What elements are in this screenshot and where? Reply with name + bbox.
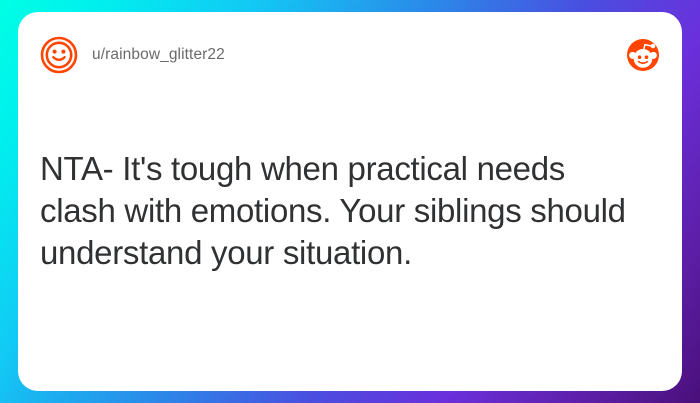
screenshot-stage: u/rainbow_glitter22 NTA- It's tough when… <box>0 0 700 403</box>
smiley-face-avatar-icon[interactable] <box>40 36 78 74</box>
username-label: u/rainbow_glitter22 <box>92 46 225 64</box>
reddit-snoo-logo-icon[interactable] <box>626 38 660 72</box>
reddit-comment-card: u/rainbow_glitter22 NTA- It's tough when… <box>18 12 682 391</box>
comment-text: NTA- It's tough when practical needs cla… <box>40 148 646 274</box>
comment-header: u/rainbow_glitter22 <box>18 12 682 98</box>
